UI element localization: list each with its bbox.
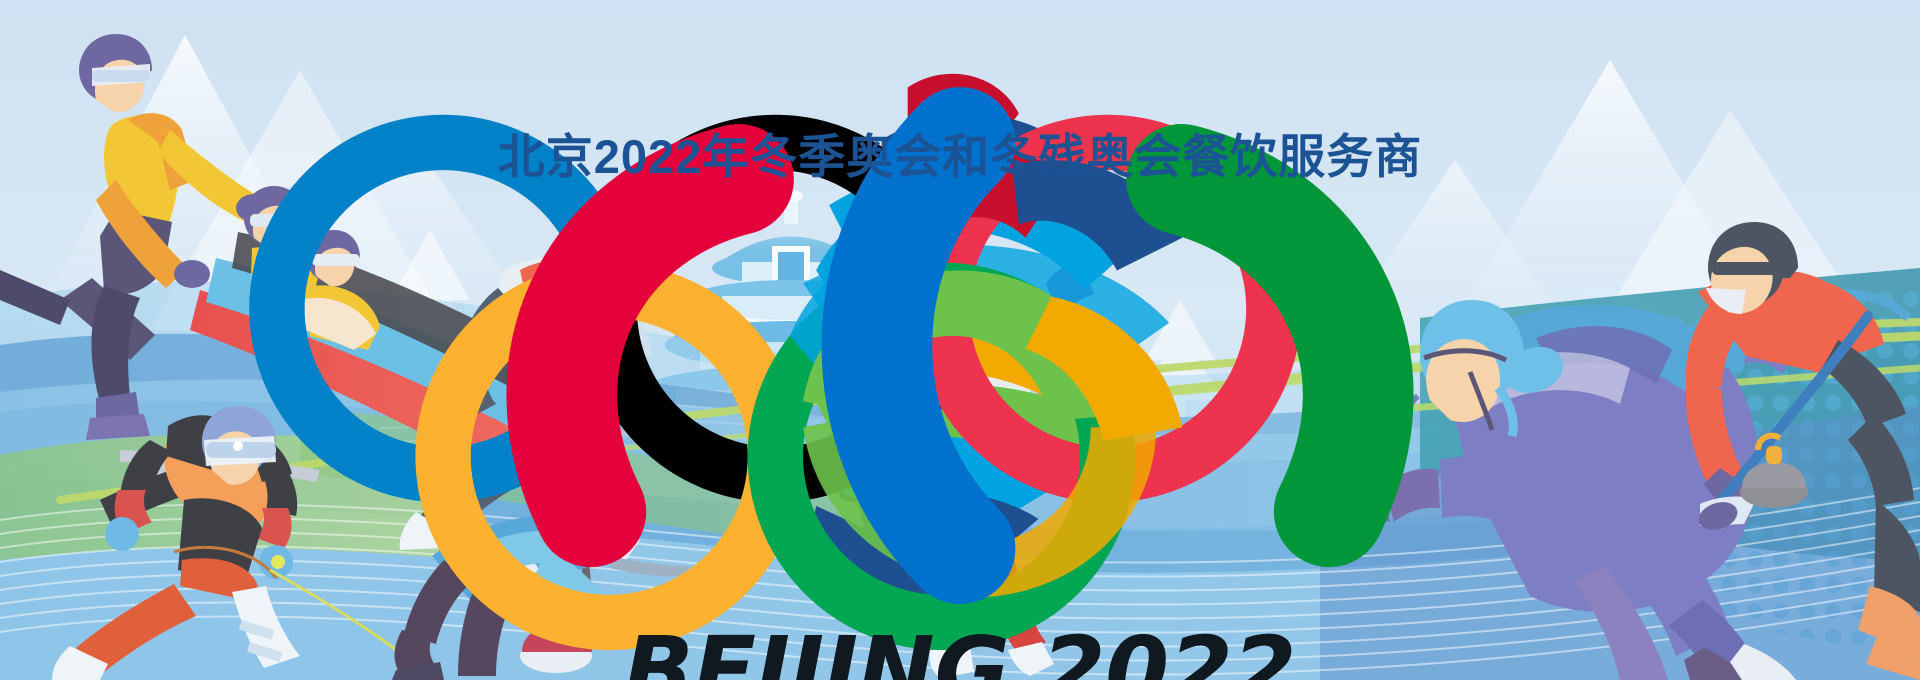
beijing-2022-catering-banner: BEIJING 2022 bbox=[0, 0, 1920, 680]
page-title: 北京2022年冬季奥会和冬残奥会餐饮服务商 bbox=[0, 118, 1920, 187]
